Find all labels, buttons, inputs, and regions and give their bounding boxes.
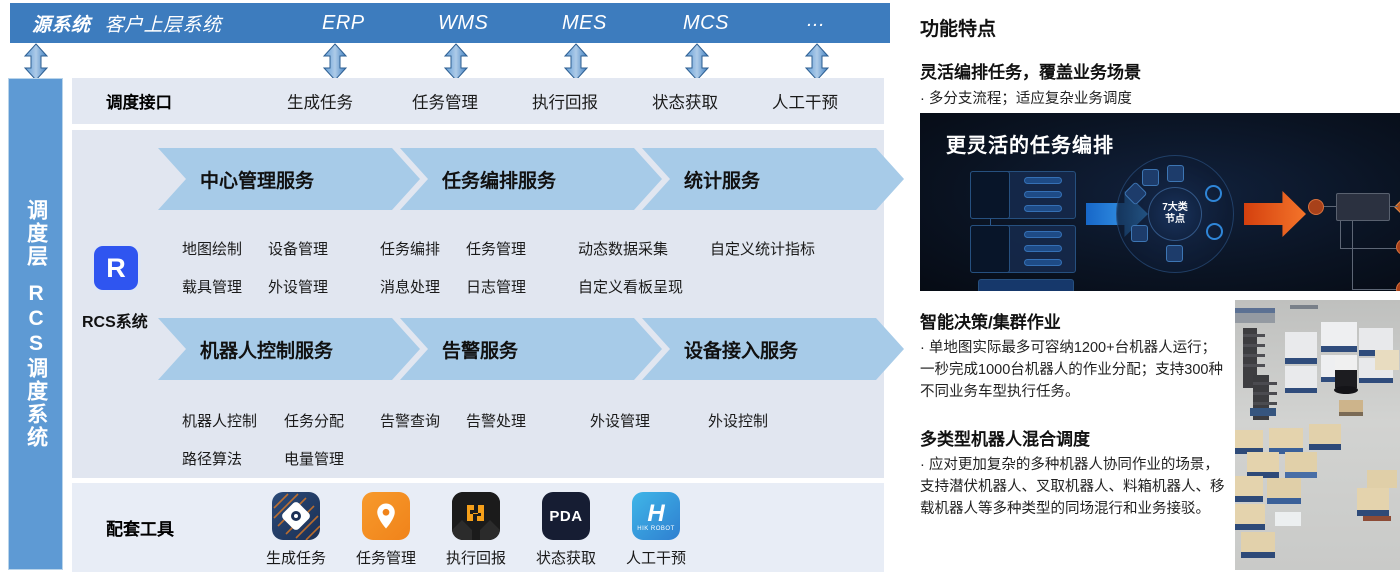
rcs-logo-icon: R xyxy=(94,246,138,290)
service-title: 中心管理服务 xyxy=(200,166,314,193)
execution-icon xyxy=(452,492,500,540)
sidebar-label-line1: 调度层 xyxy=(21,199,49,268)
tool-create-task[interactable]: 生成任务 xyxy=(268,492,324,568)
service-chevron-center-mgmt: 中心管理服务 xyxy=(158,148,420,210)
interface-item-status: 状态获取 xyxy=(652,89,718,113)
section-body: · 应对更加复杂的多种机器人协同作业的场景，支持潜伏机器人、叉取机器人、料箱机器… xyxy=(920,455,1230,520)
orange-arrow-icon xyxy=(1244,191,1306,237)
flow-node-thumb xyxy=(970,225,1010,273)
source-systems-band: 源系统 客户上层系统 ERP WMS MES MCS ... xyxy=(10,3,890,43)
feature-section-3: 多类型机器人混合调度 · 应对更加复杂的多种机器人协同作业的场景，支持潜伏机器人… xyxy=(920,425,1230,520)
feature-item: 任务分配 xyxy=(284,410,344,431)
service-title: 任务编排服务 xyxy=(442,166,556,193)
system-wms: WMS xyxy=(438,12,488,35)
flow-decision-node xyxy=(1394,197,1400,217)
architecture-diagram: 源系统 客户上层系统 ERP WMS MES MCS ... 调度层 RCS调度… xyxy=(0,0,890,577)
feature-item: 告警处理 xyxy=(466,410,526,431)
tool-label: 状态获取 xyxy=(536,547,596,568)
warehouse-robots-photo xyxy=(1235,300,1400,570)
service-title: 告警服务 xyxy=(442,336,518,363)
flow-box xyxy=(1336,193,1390,221)
section-body: · 多分支流程；适应复杂业务调度 xyxy=(920,89,1390,111)
feature-item: 地图绘制 xyxy=(182,238,242,259)
ring-label-line2: 节点 xyxy=(1165,214,1185,226)
sidebar-label-line2: RCS调度系统 xyxy=(21,282,49,449)
node-chip xyxy=(1024,191,1062,198)
service-chevron-robot-ctrl: 机器人控制服务 xyxy=(158,318,420,380)
service-title: 设备接入服务 xyxy=(684,336,798,363)
node-satellite-subflow xyxy=(1166,245,1183,262)
rcs-system-name: RCS系统 xyxy=(82,308,148,332)
updown-arrow-icon xyxy=(440,43,472,81)
tool-label: 执行回报 xyxy=(446,547,506,568)
section-heading: 多类型机器人混合调度 xyxy=(920,425,1230,450)
system-erp: ERP xyxy=(322,12,365,35)
hik-icon-sub: HIK ROBOT xyxy=(637,526,675,532)
service-title: 机器人控制服务 xyxy=(200,336,333,363)
dispatch-layer-sidebar: 调度层 RCS调度系统 xyxy=(8,78,63,570)
section-heading: 灵活编排任务，覆盖业务场景 xyxy=(920,58,1390,83)
interface-item-create-task: 生成任务 xyxy=(287,89,353,113)
scan-icon xyxy=(272,492,320,540)
node-satellite-condition xyxy=(1205,185,1222,202)
source-layer-subtitle: 客户上层系统 xyxy=(105,10,222,37)
service-chevron-task-orch: 任务编排服务 xyxy=(400,148,662,210)
feature-item: 自定义统计指标 xyxy=(710,238,815,259)
feature-item: 外设管理 xyxy=(590,410,650,431)
node-chip xyxy=(1024,205,1062,212)
supporting-tools-strip: 配套工具 生成任务 任务管理 执行回报 xyxy=(72,482,884,572)
feature-item: 机器人控制 xyxy=(182,410,257,431)
flow-node-thumb xyxy=(970,171,1010,219)
feature-item: 消息处理 xyxy=(380,276,440,297)
service-chevron-statistics: 统计服务 xyxy=(642,148,904,210)
feature-item: 外设控制 xyxy=(708,410,768,431)
service-row-2: 机器人控制服务 告警服务 设备接入服务 xyxy=(72,318,884,380)
location-pin-icon xyxy=(362,492,410,540)
node-chip xyxy=(1024,177,1062,184)
hik-robot-icon: H HIK ROBOT xyxy=(632,492,680,540)
node-chip xyxy=(1024,231,1062,238)
source-layer-title: 源系统 xyxy=(32,10,91,37)
service-title: 统计服务 xyxy=(684,166,760,193)
panel-title: 功能特点 xyxy=(920,14,996,41)
node-chip xyxy=(1024,245,1062,252)
feature-section-2: 智能决策/集群作业 · 单地图实际最多可容纳1200+台机器人运行；一秒完成10… xyxy=(920,308,1230,403)
node-chip xyxy=(1024,259,1062,266)
feature-item: 电量管理 xyxy=(284,448,344,469)
task-orchestration-image: 更灵活的任务编排 7大类 节点 xyxy=(920,113,1400,291)
service-row-1: 中心管理服务 任务编排服务 统计服务 xyxy=(72,148,884,210)
scheduling-interface-strip: 调度接口 生成任务 任务管理 执行回报 状态获取 人工干预 xyxy=(72,78,884,124)
tool-label: 任务管理 xyxy=(356,547,416,568)
feature-item: 动态数据采集 xyxy=(578,238,668,259)
feature-item: 自定义看板呈现 xyxy=(578,276,683,297)
service-chevron-alarm: 告警服务 xyxy=(400,318,662,380)
interface-item-task-mgmt: 任务管理 xyxy=(412,89,478,113)
tools-label: 配套工具 xyxy=(106,515,174,540)
updown-arrow-icon xyxy=(319,43,351,81)
tool-label: 生成任务 xyxy=(266,547,326,568)
ring-label-line1: 7大类 xyxy=(1162,202,1188,214)
node-satellite-start xyxy=(1142,169,1159,186)
feature-item: 外设管理 xyxy=(268,276,328,297)
flow-node-footer xyxy=(978,279,1074,291)
updown-arrow-icon xyxy=(20,43,52,81)
feature-item: 载具管理 xyxy=(182,276,242,297)
photo-content xyxy=(1235,300,1400,570)
interface-item-manual: 人工干预 xyxy=(772,89,838,113)
node-satellite-exec xyxy=(1206,223,1223,240)
service-chevron-device-access: 设备接入服务 xyxy=(642,318,904,380)
feature-section-1: 灵活编排任务，覆盖业务场景 · 多分支流程；适应复杂业务调度 xyxy=(920,58,1390,111)
feature-item: 任务管理 xyxy=(466,238,526,259)
node-satellite-end xyxy=(1131,225,1148,242)
feature-item: 任务编排 xyxy=(380,238,440,259)
pda-icon: PDA xyxy=(542,492,590,540)
node-satellite-work xyxy=(1167,165,1184,182)
updown-arrow-icon xyxy=(681,43,713,81)
feature-item: 路径算法 xyxy=(182,448,242,469)
tool-label: 人工干预 xyxy=(626,547,686,568)
interface-item-exec-report: 执行回报 xyxy=(532,89,598,113)
tool-manual-intervention[interactable]: H HIK ROBOT 人工干预 xyxy=(628,492,684,568)
flow-start-dot xyxy=(1308,199,1324,215)
feature-item: 告警查询 xyxy=(380,410,440,431)
rcs-services-panel: 中心管理服务 任务编排服务 统计服务 地图绘制 设备管理 载具管理 外设管理 任… xyxy=(72,130,884,478)
feature-item: 日志管理 xyxy=(466,276,526,297)
section-heading: 智能决策/集群作业 xyxy=(920,308,1230,333)
node-ring-center: 7大类 节点 xyxy=(1148,187,1202,241)
updown-arrow-icon xyxy=(801,43,833,81)
tool-task-management[interactable]: 任务管理 xyxy=(358,492,414,568)
tool-status-fetch[interactable]: PDA 状态获取 xyxy=(538,492,594,568)
system-mes: MES xyxy=(562,12,607,35)
flow-node-dot xyxy=(1396,239,1400,255)
pda-icon-text: PDA xyxy=(549,508,582,525)
hero-image-title: 更灵活的任务编排 xyxy=(946,129,1114,158)
section-body: · 单地图实际最多可容纳1200+台机器人运行；一秒完成1000台机器人的作业分… xyxy=(920,338,1230,403)
flow-node-dot xyxy=(1396,281,1400,291)
connector-arrows xyxy=(0,43,890,81)
hik-icon-letter: H xyxy=(647,502,664,526)
updown-arrow-icon xyxy=(560,43,592,81)
rcs-logo-letter: R xyxy=(106,255,126,282)
interface-label: 调度接口 xyxy=(106,89,172,113)
system-more: ... xyxy=(807,9,825,32)
tool-execution-report[interactable]: 执行回报 xyxy=(448,492,504,568)
feature-item: 设备管理 xyxy=(268,238,328,259)
system-mcs: MCS xyxy=(683,12,729,35)
